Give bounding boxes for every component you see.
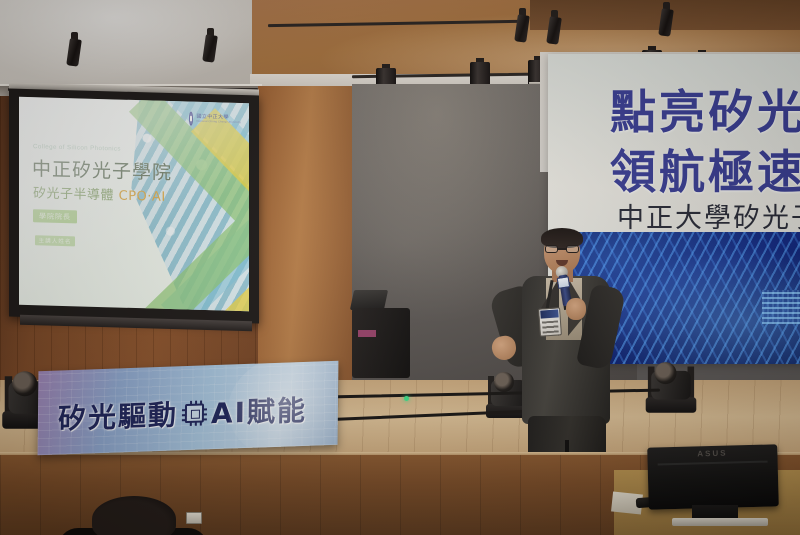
speaker-id-badge: [538, 307, 562, 336]
slide-english-subtitle: College of Silicon Photonics: [33, 143, 121, 152]
chip-icon: [185, 403, 204, 423]
university-logo: 國立中正大學 National Chung Cheng University: [189, 109, 241, 130]
university-seal-icon: [189, 112, 193, 126]
microphone-flag: [557, 276, 571, 289]
ceiling-spotlight-5: [660, 2, 673, 36]
audience-member-head: [92, 496, 176, 535]
slide-badge-secondary: 主講人姓名: [35, 235, 75, 246]
equipment-label: [358, 330, 376, 337]
av-equipment-case: [352, 308, 410, 378]
chip-pin: [195, 400, 197, 404]
lamp-head: [66, 38, 82, 66]
monitor-rear-ridge: [658, 461, 768, 466]
projected-slide: 國立中正大學 National Chung Cheng University C…: [19, 97, 249, 311]
circuit-chip-pad: [762, 290, 800, 324]
glasses-lens-left: [545, 245, 558, 253]
speaker-glasses: [545, 245, 579, 253]
chip-pin: [200, 400, 202, 404]
glasses-lens-right: [566, 245, 579, 253]
light-base: [646, 397, 697, 412]
monitor-brand-label: ASUS: [697, 449, 727, 459]
chip-pin: [182, 414, 186, 416]
chip-pin: [203, 418, 207, 420]
chip-pin: [190, 421, 192, 425]
lamp-head: [546, 16, 562, 44]
av-laptop: [350, 290, 388, 310]
lamp-head: [658, 8, 674, 36]
chip-pin: [203, 413, 207, 415]
ceiling-spotlight-4: [548, 10, 561, 44]
equipment-status-led: [404, 396, 409, 401]
monitor-base-foot: [672, 518, 768, 526]
ceiling-spotlight-3: [516, 8, 529, 42]
chip-core: [191, 409, 200, 418]
badge-text-lines: [542, 320, 559, 333]
lamp-head: [514, 14, 530, 42]
chip-pin: [195, 421, 197, 425]
backdrop-headline-line1: 點亮矽光: [610, 76, 800, 142]
slide-badge-primary: 學院院長: [33, 209, 77, 223]
light-lens: [12, 371, 37, 396]
chip-pin: [182, 409, 186, 411]
slide-subtitle-accent: CPO‧AI: [119, 189, 166, 205]
chip-pin: [203, 408, 207, 410]
slide-subtitle-main: 矽光子半導體: [33, 186, 119, 203]
asus-monitor-rear: ASUS: [647, 444, 779, 509]
stage-front-banner: 矽光驅動 AI賦能: [38, 361, 339, 456]
stage-banner-text-right: AI賦能: [211, 389, 308, 432]
logo-wordmark: 國立中正大學 National Chung Cheng University: [196, 114, 241, 124]
ceiling-spotlight-1: [68, 32, 81, 66]
conference-photo-scene: 點亮矽光 領航極速 中正大學矽光子 國立中正大學 National Chung …: [0, 0, 800, 535]
stage-banner-text-left: 矽光驅動: [58, 393, 178, 437]
logo-name-en: National Chung Cheng University: [196, 120, 241, 124]
wall-power-outlet: [186, 512, 202, 524]
chip-pin: [190, 400, 192, 404]
light-lens: [655, 362, 677, 384]
backdrop-headline-line2: 領航極速: [610, 136, 800, 202]
speaker-right-hand: [566, 298, 586, 320]
slide-subtitle: 矽光子半導體 CPO‧AI: [33, 182, 166, 205]
chip-pin: [182, 419, 186, 421]
lamp-head: [202, 34, 218, 62]
moving-head-light-right: [646, 353, 697, 412]
ceiling-spotlight-2: [204, 28, 217, 62]
backdrop-subline: 中正大學矽光子: [617, 196, 800, 235]
badge-header-strip: [540, 309, 559, 318]
glasses-bridge: [558, 248, 566, 250]
chip-pin: [200, 421, 202, 425]
stage-banner-text: 矽光驅動 AI賦能: [58, 389, 308, 438]
slide-title: 中正矽光子學院: [32, 154, 172, 185]
